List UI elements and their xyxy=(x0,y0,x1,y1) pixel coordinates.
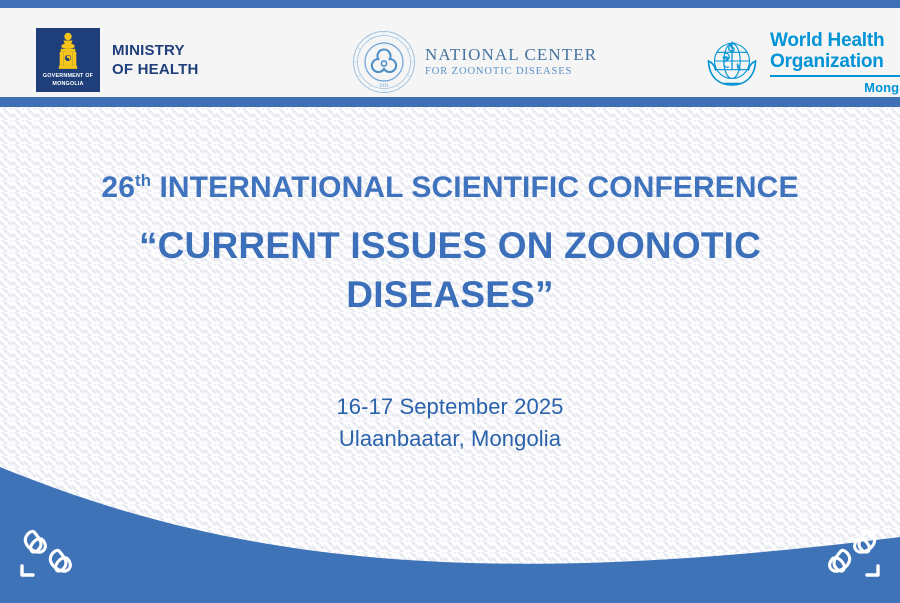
badge-line-government: GOVERNMENT OF xyxy=(36,73,100,81)
ministry-of-health-name: MINISTRY OF HEALTH xyxy=(112,41,199,79)
wave-fill xyxy=(0,467,900,603)
who-name: World Health Organization xyxy=(770,30,900,72)
conference-dates: 16-17 September 2025 xyxy=(0,391,900,423)
conference-ordinal-suffix: th xyxy=(135,171,151,190)
ministry-badge-caption: GOVERNMENT OF MONGOLIA xyxy=(36,73,100,88)
national-center-line2: FOR ZOONOTIC DISEASES xyxy=(425,65,597,79)
who-logo: World Health Organization Mongolia xyxy=(702,30,900,95)
who-wordmark: World Health Organization Mongolia xyxy=(770,30,900,95)
badge-line-mongolia: MONGOLIA xyxy=(36,81,100,89)
bottom-wave-decoration xyxy=(0,443,900,603)
who-divider xyxy=(770,75,900,77)
page-title: “CURRENT ISSUES ON ZOONOTIC DISEASES” xyxy=(0,221,900,319)
mongolia-government-badge: GOVERNMENT OF MONGOLIA xyxy=(36,28,100,92)
national-center-name: NATIONAL CENTER FOR ZOONOTIC DISEASES xyxy=(425,45,597,79)
top-accent-bar xyxy=(0,0,900,8)
header-logo-band: GOVERNMENT OF MONGOLIA MINISTRY OF HEALT… xyxy=(0,8,900,97)
triquetra-knot-icon-left xyxy=(14,525,94,581)
triquetra-knot-icon-right xyxy=(806,525,886,581)
header-divider-bar xyxy=(0,97,900,107)
conference-edition-line: 26th INTERNATIONAL SCIENTIFIC CONFERENCE xyxy=(0,169,900,207)
national-center-logo: 1931 NATIONAL CENTER FOR ZOONOTIC DISEAS… xyxy=(352,30,597,94)
conference-number: 26 xyxy=(101,171,135,204)
ministry-of-health-logo: GOVERNMENT OF MONGOLIA MINISTRY OF HEALT… xyxy=(36,28,199,92)
conference-title-slide: GOVERNMENT OF MONGOLIA MINISTRY OF HEALT… xyxy=(0,0,900,603)
who-country-office: Mongolia xyxy=(770,80,900,95)
national-center-line1: NATIONAL CENTER xyxy=(425,45,597,65)
biohazard-seal-icon: 1931 xyxy=(352,30,416,94)
seal-year: 1931 xyxy=(379,84,390,89)
who-emblem-icon xyxy=(702,33,762,93)
slide-body: 26th INTERNATIONAL SCIENTIFIC CONFERENCE… xyxy=(0,107,900,455)
conference-edition-text: INTERNATIONAL SCIENTIFIC CONFERENCE xyxy=(151,171,799,204)
